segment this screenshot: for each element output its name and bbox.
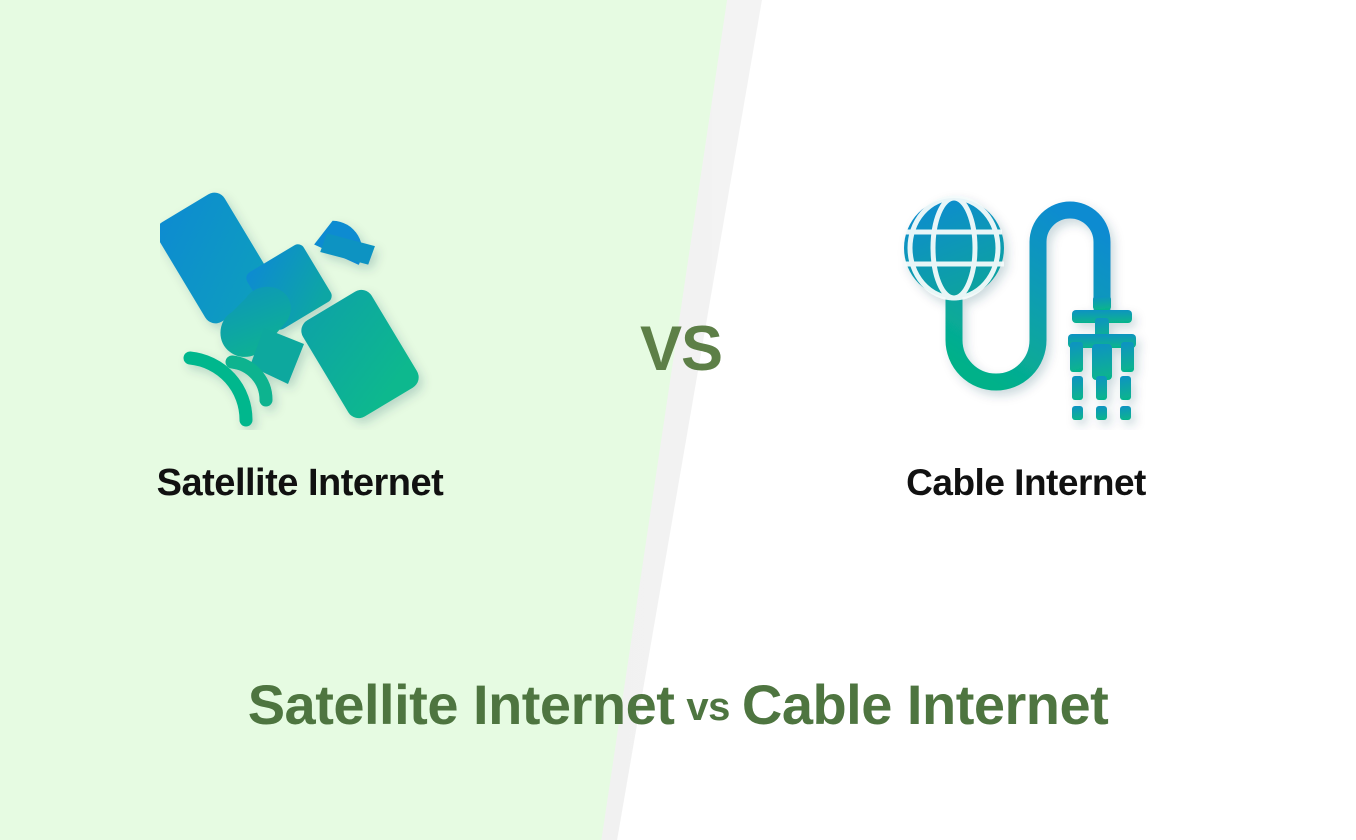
caption: Satellite InternetvsCable Internet bbox=[0, 672, 1356, 737]
left-panel-label: Satellite Internet bbox=[0, 462, 600, 505]
versus-badge: VS bbox=[626, 318, 736, 381]
cable-internet-icon bbox=[896, 190, 1166, 430]
caption-right-text: Cable Internet bbox=[742, 673, 1108, 736]
comparison-graphic: Satellite Internet bbox=[0, 0, 1356, 840]
caption-left-text: Satellite Internet bbox=[248, 673, 675, 736]
right-panel-label: Cable Internet bbox=[756, 462, 1296, 504]
caption-vs-text: vs bbox=[674, 685, 742, 729]
satellite-icon bbox=[160, 180, 440, 430]
